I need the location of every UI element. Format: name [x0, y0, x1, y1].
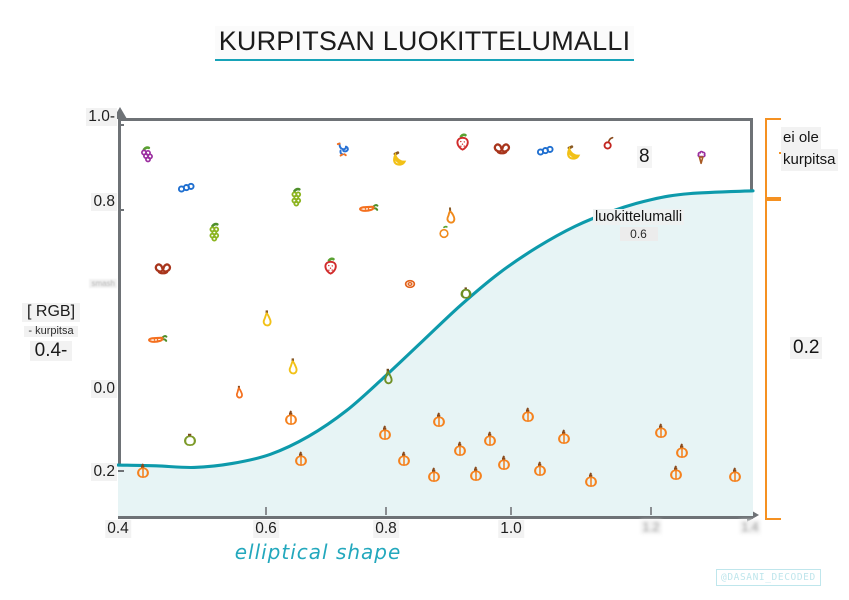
data-point-strawberry-red [451, 131, 475, 155]
x-tickmark-1-2 [650, 507, 652, 515]
data-point-pumpkin-orange [493, 453, 515, 475]
plot-area: 1.0- 0.8 smash 0.0 0.2 0.4 0.6 0.8 1.0 1… [118, 118, 753, 516]
data-point-squash-yellow [281, 355, 305, 379]
data-point-cherry-red [598, 134, 620, 156]
data-point-pumpkin-orange [650, 421, 672, 443]
y-tick-smash: smash [89, 279, 117, 288]
stray-point-label: 8 [637, 146, 652, 168]
chart-canvas: KURPITSAN LUOKITTELUMALLI [ RGB] - kurpi… [0, 0, 849, 600]
data-point-orange-slice [400, 274, 420, 294]
data-point-gourd-olive [376, 365, 400, 389]
data-point-pumpkin-orange [580, 470, 602, 492]
data-point-pumpkin-orange [280, 408, 302, 430]
data-point-carrot-orange [354, 197, 380, 223]
data-point-pumpkin-orange [553, 427, 575, 449]
data-point-bananas [560, 142, 586, 168]
x-tickmark-0-6 [265, 507, 267, 515]
data-point-pumpkin-orange [671, 441, 693, 463]
legend-label-not-pumpkin-line1: ei ole [781, 127, 821, 149]
data-point-carrot-orange [143, 328, 169, 354]
y-tick-0-0: 0.0 [91, 380, 117, 398]
data-point-blueberries [174, 176, 198, 200]
data-point-pumpkin-orange [132, 461, 154, 483]
data-point-ice-cream-purple [690, 147, 712, 169]
bracket-not-pumpkin [765, 118, 781, 199]
legend-label-not-pumpkin-line2: kurpitsa [781, 149, 838, 171]
data-point-pumpkin-orange [479, 429, 501, 451]
watermark: @DASANI_DECODED [716, 569, 821, 586]
data-point-pumpkin-orange [724, 465, 746, 487]
classifier-name: luokittelumalli [593, 209, 684, 225]
data-point-pumpkin-orange [517, 405, 539, 427]
x-tick-1-4: 1.4 [740, 520, 761, 534]
page-title: KURPITSAN LUOKITTELUMALLI [215, 26, 635, 61]
data-point-pretzel-brown [489, 133, 516, 160]
data-point-grapes-green [285, 186, 309, 210]
y-tickmark-1-0 [118, 124, 124, 126]
data-point-pumpkin-orange [465, 464, 487, 486]
x-axis-title: elliptical shape [235, 540, 402, 564]
data-point-peach-orange [434, 223, 454, 243]
data-point-bananas [386, 148, 412, 174]
y-axis-label-group: [ RGB] - kurpitsa 0.4- [22, 303, 80, 361]
bracket-pumpkin [765, 199, 781, 520]
classifier-threshold: 0.6 [620, 227, 658, 241]
data-point-grapes-purple [135, 144, 159, 168]
classifier-annotation: luokittelumalli 0.6 [593, 208, 684, 241]
data-point-strawberry-red [319, 255, 343, 279]
title-container: KURPITSAN LUOKITTELUMALLI [0, 26, 849, 61]
y-axis-label-kurpitsa: - kurpitsa [24, 326, 77, 338]
data-point-squash-yellow [255, 307, 279, 331]
data-point-pumpkin-orange [393, 449, 415, 471]
data-point-pumpkin-orange [449, 439, 471, 461]
data-point-pumpkin-olive [179, 429, 201, 451]
data-point-pretzel-brown [149, 254, 176, 281]
y-tickmark-0-2 [118, 470, 124, 472]
data-point-pumpkin-orange [423, 465, 445, 487]
y-tick-1-0: 1.0- [86, 108, 117, 126]
x-tick-0-4: 0.4 [105, 520, 131, 538]
x-tick-0-8: 0.8 [373, 520, 399, 538]
x-tick-1-0: 1.0 [498, 520, 524, 538]
y-tick-0-8: 0.8 [91, 193, 117, 211]
legend-label-not-pumpkin: ei ole kurpitsa [781, 127, 847, 171]
x-tickmark-1-0 [510, 507, 512, 515]
x-tick-0-6: 0.6 [253, 520, 279, 538]
y-tick-0-2: 0.2 [91, 463, 117, 481]
x-tickmark-0-8 [385, 507, 387, 515]
data-point-gourd-orange [228, 382, 250, 404]
decision-boundary-svg [118, 118, 753, 516]
y-tickmark-0-8 [118, 209, 124, 211]
data-point-pumpkin-orange [290, 449, 312, 471]
data-point-pumpkin-orange [428, 410, 450, 432]
data-point-bird-blue [331, 137, 355, 161]
x-axis-line [118, 516, 753, 519]
data-point-squash-olive [455, 283, 477, 305]
data-point-grapes-green [203, 221, 227, 245]
y-axis-label-rgb: [ RGB] [22, 303, 80, 322]
data-point-blueberries [533, 139, 557, 163]
x-tick-1-2: 1.2 [641, 520, 662, 534]
data-point-pumpkin-orange [665, 463, 687, 485]
y-tick-0-4: 0.4- [30, 341, 73, 361]
data-point-pumpkin-orange [529, 459, 551, 481]
legend-label-pumpkin-value: 0.2 [790, 337, 822, 359]
data-point-pumpkin-orange [374, 423, 396, 445]
